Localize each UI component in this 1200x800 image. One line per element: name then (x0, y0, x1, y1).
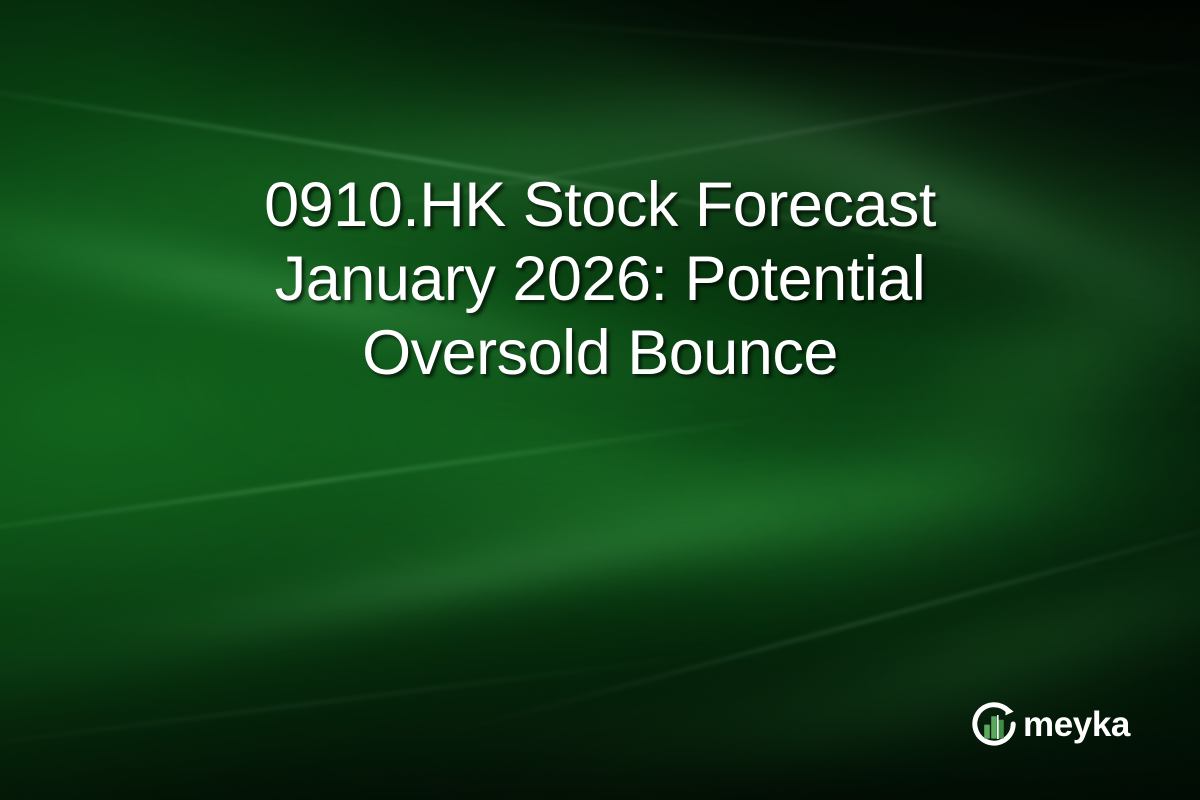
background-vignette (0, 0, 1200, 800)
background-wave-ribbons (0, 0, 1200, 800)
page-title: 0910.HK Stock Forecast January 2026: Pot… (0, 168, 1200, 390)
background-bottom-shadow (0, 0, 1200, 800)
brand-wordmark: meyka (1023, 707, 1130, 742)
title-line-3: Oversold Bounce (80, 316, 1120, 390)
background-base-gradient (0, 0, 1200, 800)
wave-ribbon-5 (0, 359, 1200, 681)
light-streak-6 (0, 653, 717, 757)
meyka-bar-chart-ring-icon (968, 698, 1020, 750)
title-line-2: January 2026: Potential (80, 242, 1120, 316)
light-streak-5 (481, 19, 1200, 80)
background-top-shadow (0, 0, 1200, 800)
light-streak-3 (0, 415, 788, 547)
brand-logo[interactable]: meyka (968, 698, 1130, 750)
title-line-1: 0910.HK Stock Forecast (80, 168, 1120, 242)
banner: 0910.HK Stock Forecast January 2026: Pot… (0, 0, 1200, 800)
